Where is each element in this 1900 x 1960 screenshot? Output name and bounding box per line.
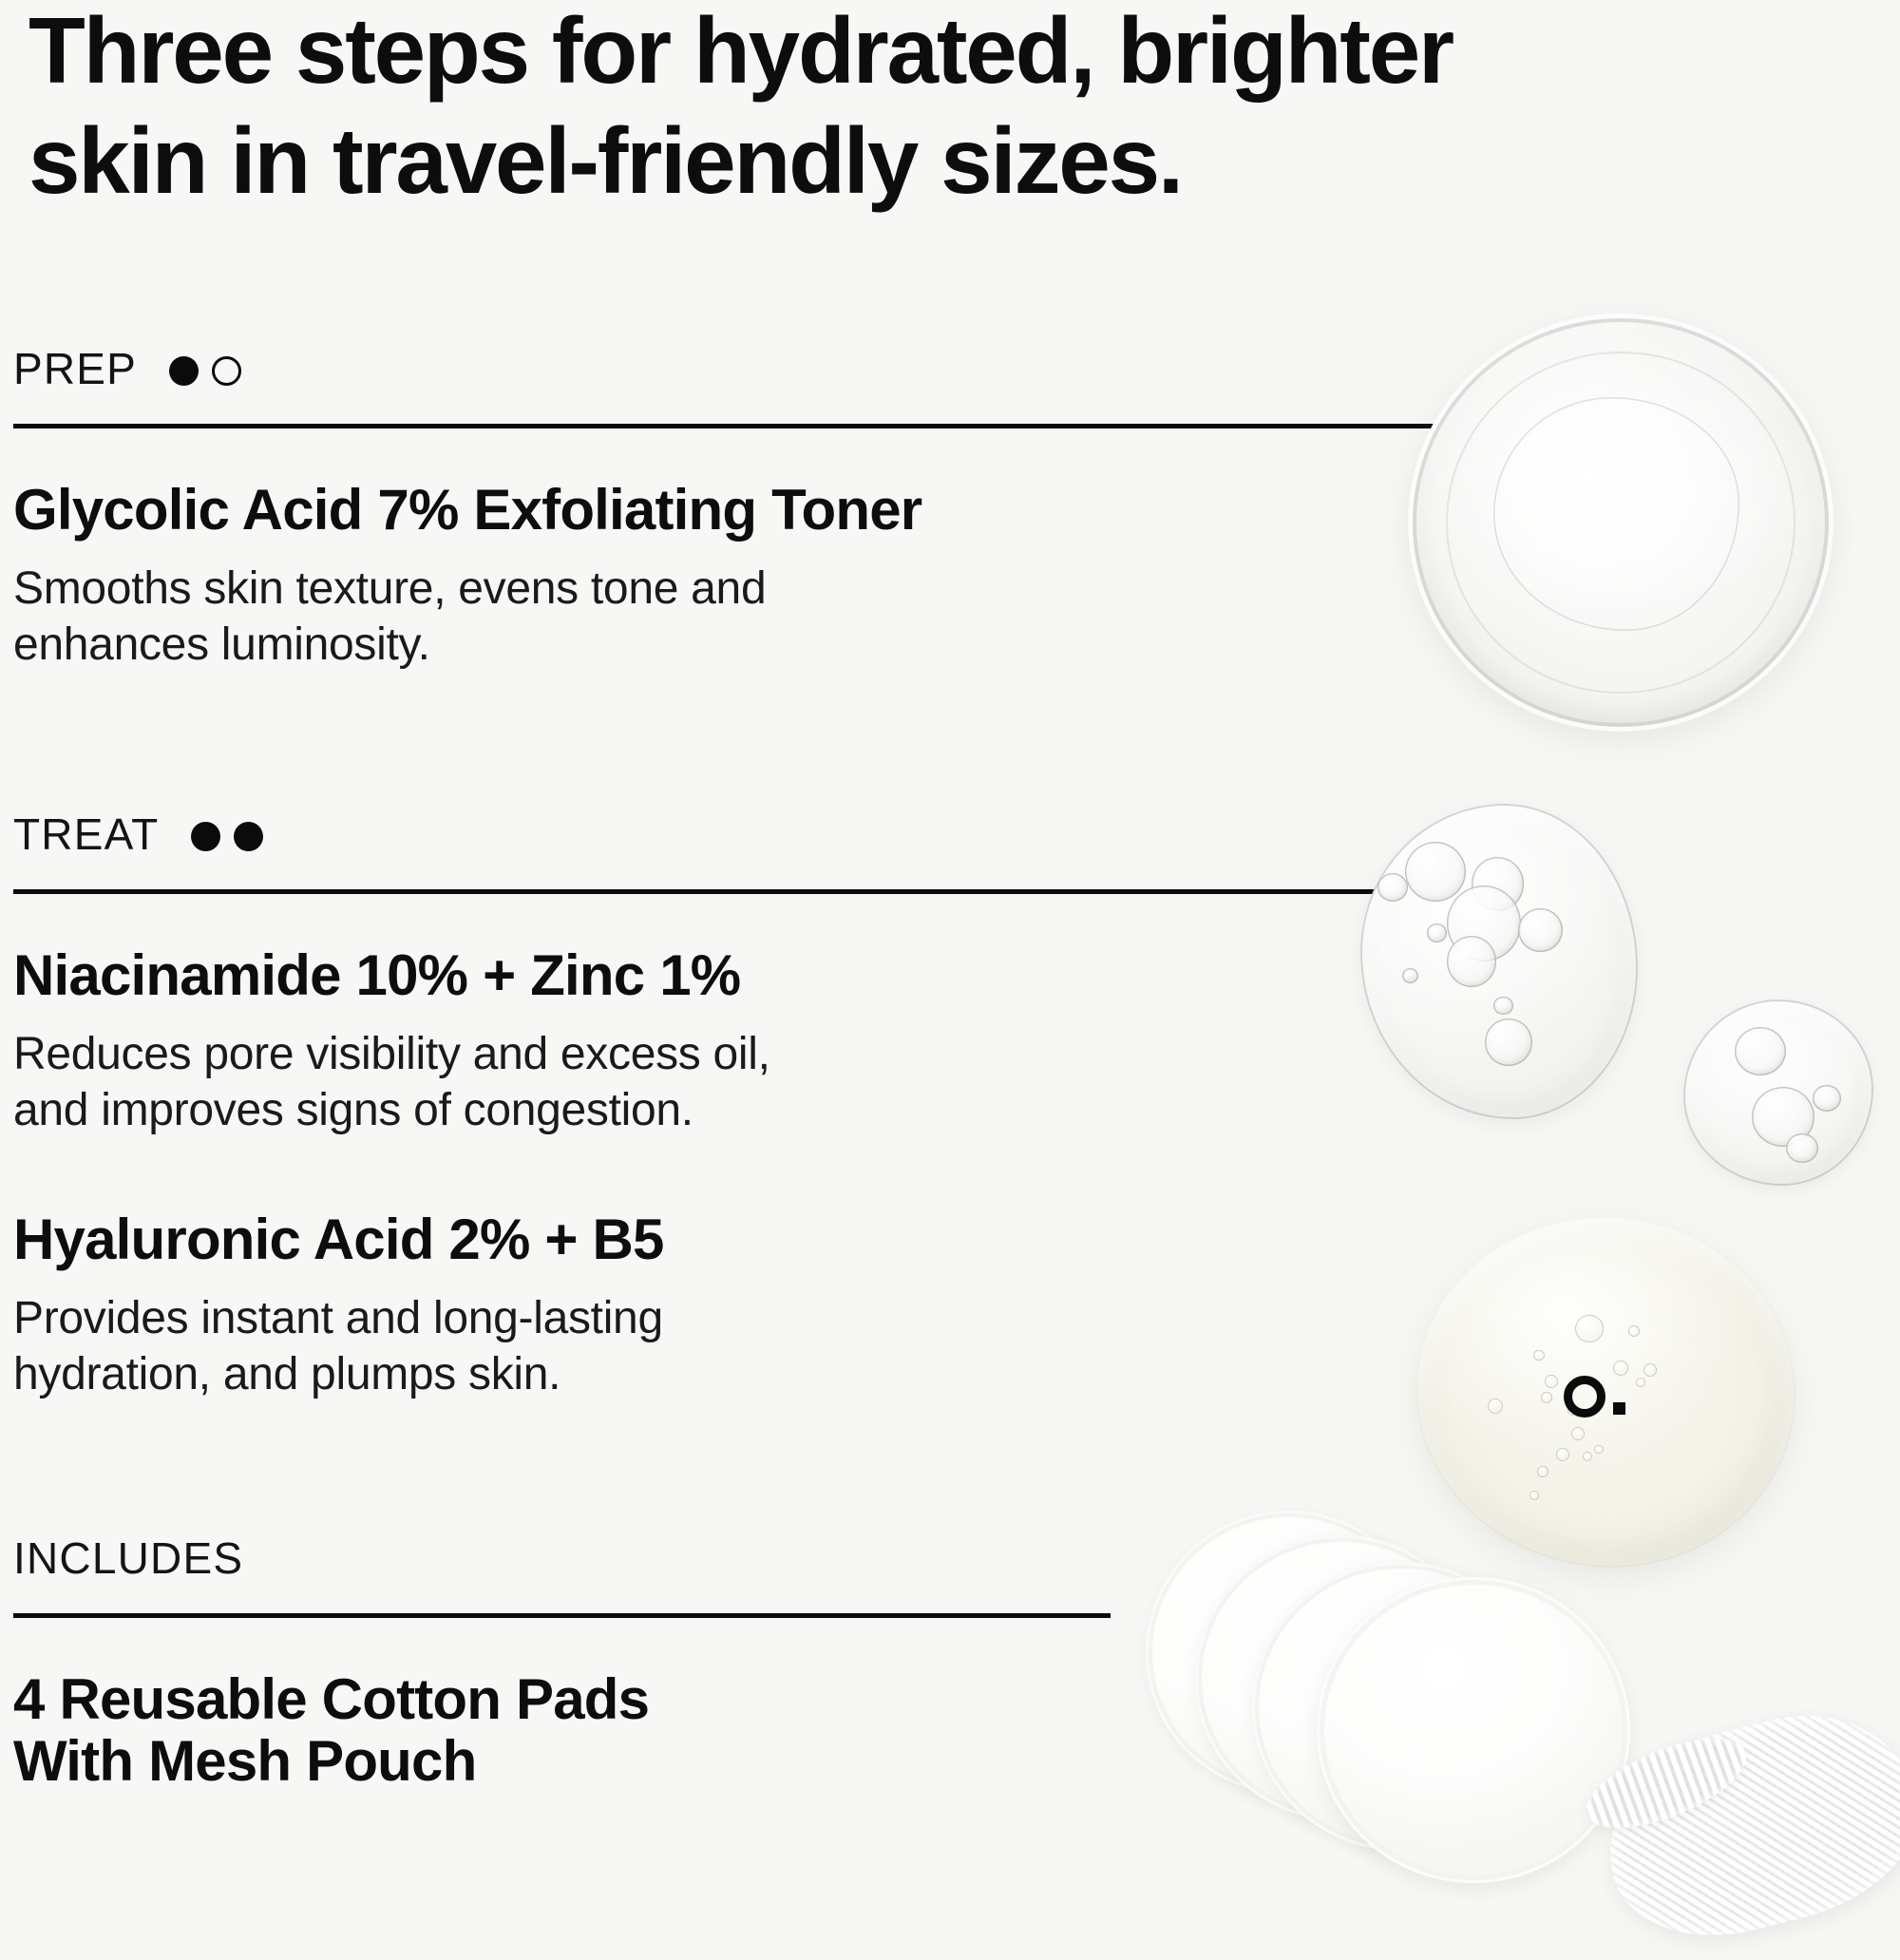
product-description: Provides instant and long-lasting hydrat… [13,1290,1386,1403]
step-dot-hollow [212,356,241,386]
bubble [1786,1133,1818,1163]
product-name-line-2: With Mesh Pouch [13,1731,1111,1793]
product-name: Hyaluronic Acid 2% + B5 [13,1209,1386,1271]
bubble [1643,1363,1657,1377]
product-item: 4 Reusable Cotton Pads With Mesh Pouch [13,1669,1111,1793]
section-label-treat: TREAT [13,809,159,860]
bubble [1628,1325,1640,1337]
brand-logo-o-period [1564,1376,1621,1433]
bubble [1813,1085,1841,1111]
brand-ring-icon [1564,1376,1605,1418]
product-item: Niacinamide 10% + Zinc 1% Reduces pore v… [13,945,1386,1139]
product-description-line: Smooths skin texture, evens tone and [13,561,1438,618]
step-dot-filled [191,822,220,851]
bubble [1447,936,1497,986]
bubble [1472,857,1524,910]
bubble [1583,1452,1592,1461]
product-item: Glycolic Acid 7% Exfoliating Toner Smoot… [13,480,1438,674]
product-name: Glycolic Acid 7% Exfoliating Toner [13,480,1438,542]
product-description-line: Provides instant and long-lasting [13,1290,1386,1347]
bubble [1556,1448,1569,1461]
niacinamide-swatch-large-image [1360,804,1638,1119]
product-description-line: enhances luminosity. [13,617,1438,674]
section-divider-includes [13,1613,1111,1618]
bubble [1613,1361,1628,1376]
step-dot-filled [169,356,199,386]
bubble [1594,1445,1604,1455]
mesh-pouch-image [1586,1690,1900,1960]
niacinamide-swatch-small-image [1683,999,1873,1186]
product-item: Hyaluronic Acid 2% + B5 Provides instant… [13,1209,1386,1403]
bubble [1518,908,1563,952]
bubble [1545,1375,1558,1388]
page-title: Three steps for hydrated, brighter skin … [28,0,1510,216]
product-description-line: Reduces pore visibility and excess oil, [13,1026,1386,1083]
toner-swatch-image [1408,314,1833,732]
cotton-pad [1317,1577,1630,1883]
bubble [1537,1466,1548,1477]
section-includes: INCLUDES 4 Reusable Cotton Pads With Mes… [13,1530,1111,1793]
bubble [1488,1399,1503,1414]
bubble [1529,1491,1539,1500]
bubble [1427,923,1446,942]
section-divider-prep [13,424,1438,428]
step-indicator-prep [169,352,241,386]
bubble [1447,885,1522,961]
bubble [1575,1315,1604,1343]
section-header-treat: TREAT [13,806,1386,863]
product-description: Reduces pore visibility and excess oil, … [13,1026,1386,1139]
bubble [1402,968,1419,984]
bubble [1533,1350,1545,1361]
step-dot-filled [234,822,263,851]
bubble [1485,1018,1532,1066]
section-label-includes: INCLUDES [13,1532,243,1584]
product-name: Niacinamide 10% + Zinc 1% [13,945,1386,1007]
section-header-prep: PREP [13,340,1438,397]
product-description: Smooths skin texture, evens tone and enh… [13,561,1438,674]
bubble [1405,842,1466,902]
section-label-prep: PREP [13,343,137,394]
step-indicator-treat [191,818,263,851]
section-prep: PREP Glycolic Acid 7% Exfoliating Toner … [13,340,1438,674]
bubble [1541,1392,1552,1403]
product-description-line: and improves signs of congestion. [13,1082,1386,1139]
product-description-line: hydration, and plumps skin. [13,1346,1386,1403]
bubble [1493,997,1512,1016]
section-header-includes: INCLUDES [13,1530,1111,1587]
bubble [1735,1027,1786,1075]
brand-period-icon [1613,1402,1625,1415]
product-name: 4 Reusable Cotton Pads [13,1669,1111,1731]
bubble [1636,1378,1645,1387]
bubble [1752,1087,1814,1147]
section-divider-treat [13,889,1386,894]
section-treat: TREAT Niacinamide 10% + Zinc 1% Reduces … [13,806,1386,1403]
